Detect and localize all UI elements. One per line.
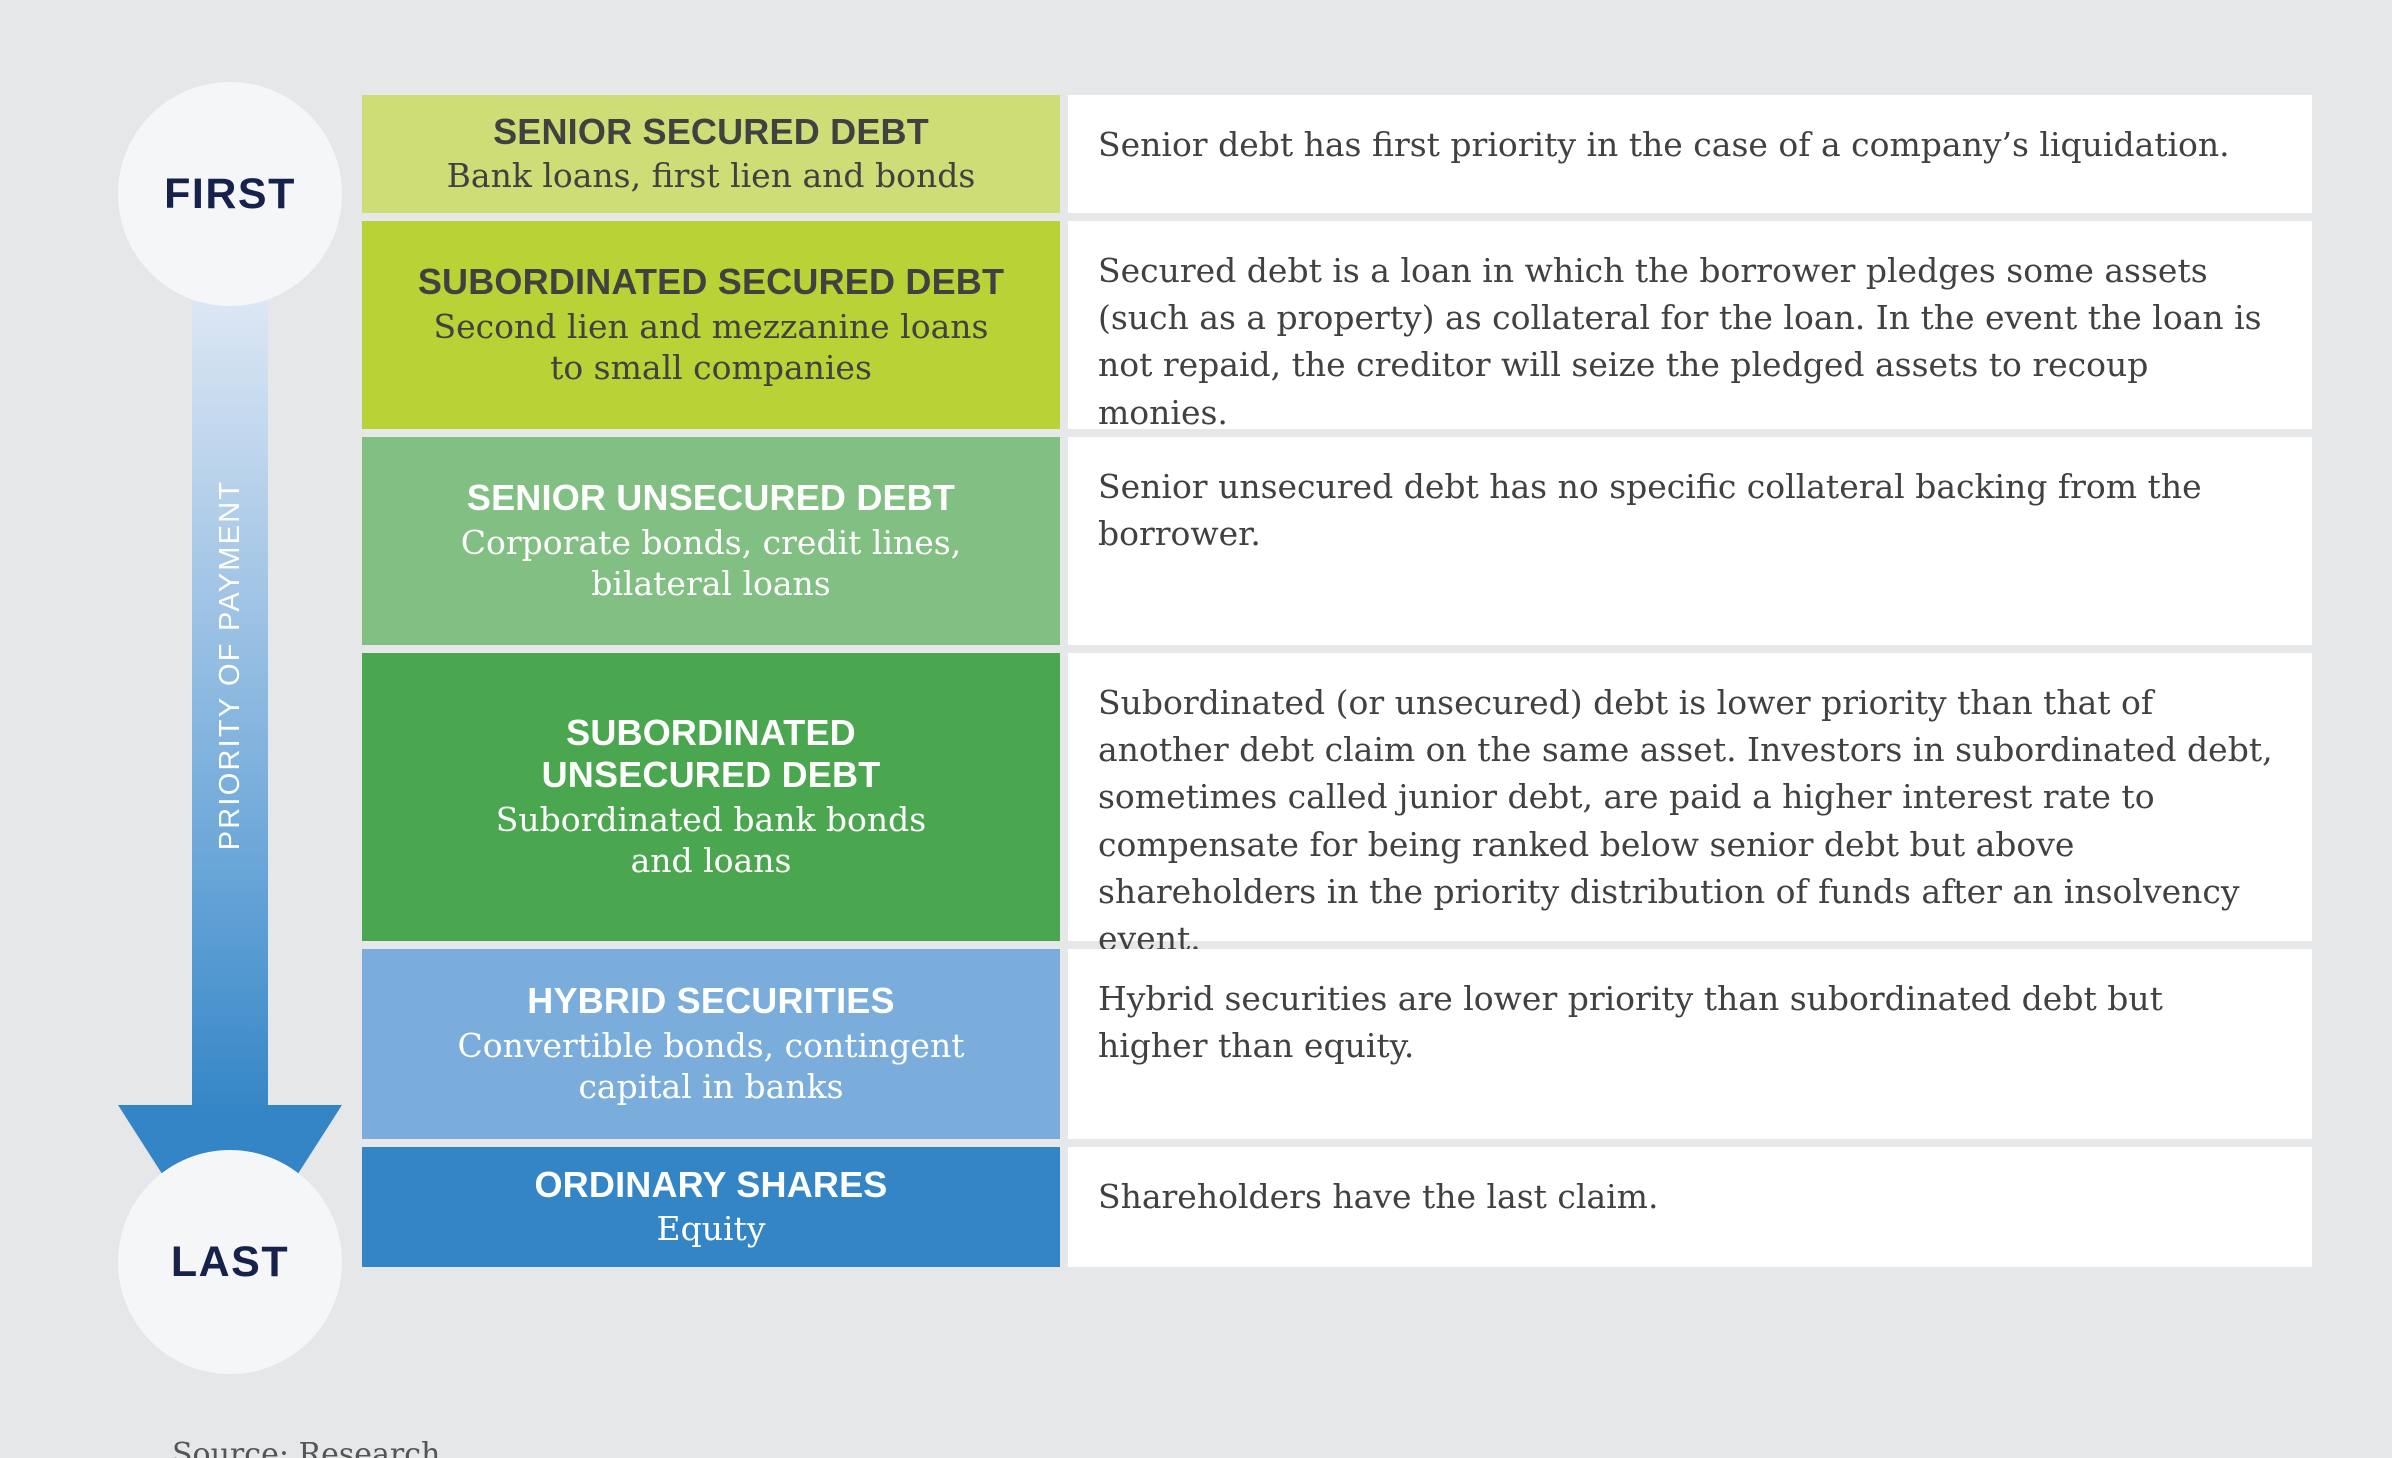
seniority-band-subtitle: Equity bbox=[657, 1209, 766, 1250]
seniority-band-subtitle: Subordinated bank bondsand loans bbox=[496, 800, 926, 882]
seniority-band-title: ORDINARY SHARES bbox=[534, 1164, 887, 1206]
priority-arrow-shaft: PRIORITY OF PAYMENT bbox=[192, 210, 268, 1120]
first-badge: FIRST bbox=[118, 82, 342, 306]
seniority-band-subtitle: Bank loans, first lien and bonds bbox=[447, 156, 976, 197]
seniority-band-subtitle: Second lien and mezzanine loansto small … bbox=[434, 307, 989, 389]
seniority-band-subtitle: Convertible bonds, contingentcapital in … bbox=[458, 1026, 965, 1108]
seniority-description-text: Senior debt has first priority in the ca… bbox=[1098, 121, 2230, 168]
seniority-description-panel: Shareholders have the last claim. bbox=[1068, 1147, 2312, 1267]
seniority-description-text: Shareholders have the last claim. bbox=[1098, 1173, 1658, 1220]
seniority-description-panel: Secured debt is a loan in which the borr… bbox=[1068, 221, 2312, 429]
priority-of-payment-label: PRIORITY OF PAYMENT bbox=[192, 210, 268, 1120]
seniority-row: SENIOR UNSECURED DEBTCorporate bonds, cr… bbox=[362, 437, 2312, 645]
seniority-band-title: SUBORDINATEDUNSECURED DEBT bbox=[542, 712, 881, 796]
last-badge: LAST bbox=[118, 1150, 342, 1374]
seniority-band: SENIOR SECURED DEBTBank loans, first lie… bbox=[362, 95, 1060, 213]
seniority-band-title: HYBRID SECURITIES bbox=[527, 980, 894, 1022]
seniority-band-title: SUBORDINATED SECURED DEBT bbox=[418, 261, 1004, 303]
seniority-description-text: Secured debt is a loan in which the borr… bbox=[1098, 247, 2278, 436]
seniority-band: ORDINARY SHARESEquity bbox=[362, 1147, 1060, 1267]
seniority-band: HYBRID SECURITIESConvertible bonds, cont… bbox=[362, 949, 1060, 1139]
priority-arrow-column: PRIORITY OF PAYMENT FIRST LAST bbox=[110, 60, 350, 1380]
seniority-row: HYBRID SECURITIESConvertible bonds, cont… bbox=[362, 949, 2312, 1139]
seniority-row: SUBORDINATED SECURED DEBTSecond lien and… bbox=[362, 221, 2312, 429]
seniority-rows: SENIOR SECURED DEBTBank loans, first lie… bbox=[362, 95, 2312, 1275]
seniority-description-text: Senior unsecured debt has no specific co… bbox=[1098, 463, 2278, 557]
seniority-row: ORDINARY SHARESEquityShareholders have t… bbox=[362, 1147, 2312, 1267]
capital-structure-diagram: PRIORITY OF PAYMENT FIRST LAST SENIOR SE… bbox=[0, 0, 2392, 1458]
seniority-description-panel: Subordinated (or unsecured) debt is lowe… bbox=[1068, 653, 2312, 941]
seniority-description-panel: Senior unsecured debt has no specific co… bbox=[1068, 437, 2312, 645]
seniority-description-text: Subordinated (or unsecured) debt is lowe… bbox=[1098, 679, 2278, 962]
seniority-description-text: Hybrid securities are lower priority tha… bbox=[1098, 975, 2278, 1069]
last-badge-label: LAST bbox=[171, 1238, 289, 1287]
seniority-description-panel: Senior debt has first priority in the ca… bbox=[1068, 95, 2312, 213]
source-footnote: Source: Research bbox=[172, 1437, 440, 1458]
seniority-band: SUBORDINATED SECURED DEBTSecond lien and… bbox=[362, 221, 1060, 429]
seniority-band-subtitle: Corporate bonds, credit lines,bilateral … bbox=[461, 523, 961, 605]
seniority-band: SENIOR UNSECURED DEBTCorporate bonds, cr… bbox=[362, 437, 1060, 645]
seniority-band-title: SENIOR UNSECURED DEBT bbox=[467, 477, 955, 519]
first-badge-label: FIRST bbox=[164, 170, 296, 219]
seniority-band: SUBORDINATEDUNSECURED DEBTSubordinated b… bbox=[362, 653, 1060, 941]
seniority-row: SUBORDINATEDUNSECURED DEBTSubordinated b… bbox=[362, 653, 2312, 941]
seniority-description-panel: Hybrid securities are lower priority tha… bbox=[1068, 949, 2312, 1139]
seniority-row: SENIOR SECURED DEBTBank loans, first lie… bbox=[362, 95, 2312, 213]
seniority-band-title: SENIOR SECURED DEBT bbox=[493, 111, 929, 153]
